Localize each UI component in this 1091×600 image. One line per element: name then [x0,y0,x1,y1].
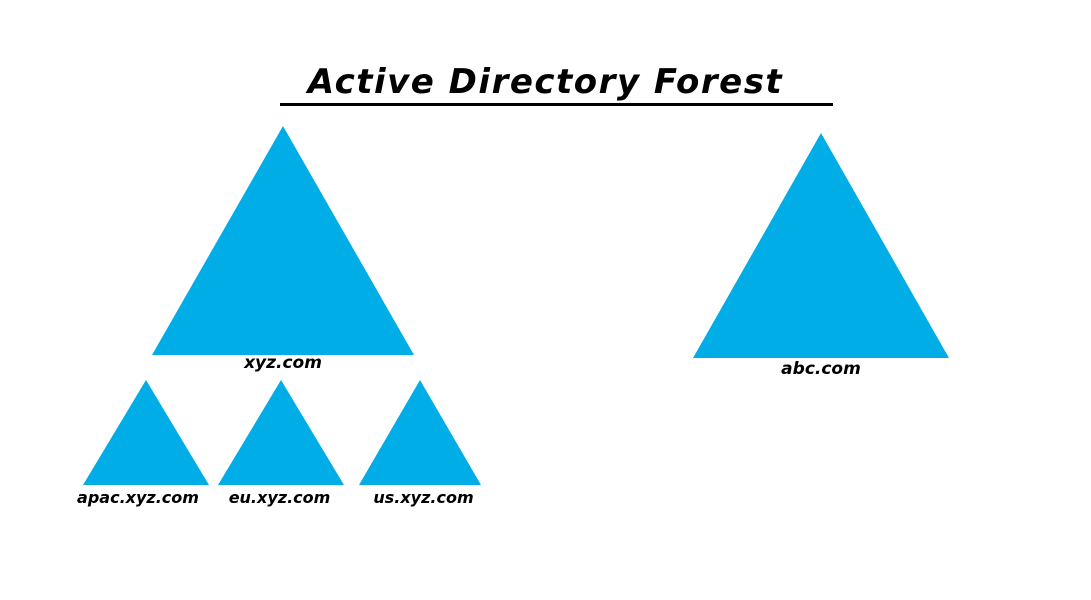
domain-label-abc: abc.com [740,359,902,379]
domain-triangle-eu-xyz [218,380,344,485]
domain-label-apac-xyz: apac.xyz.com [62,488,214,507]
domain-label-xyz: xyz.com [202,353,364,373]
title-underline-rule [280,103,833,106]
domain-triangle-us-xyz [359,380,481,485]
diagram-canvas: Active Directory Forest xyz.com apac.xyz… [0,0,1091,600]
diagram-title: Active Directory Forest [0,62,1091,102]
domain-label-us-xyz: us.xyz.com [358,488,489,507]
domain-triangle-apac-xyz [83,380,209,485]
domain-label-eu-xyz: eu.xyz.com [214,488,345,507]
domain-triangle-xyz [152,126,414,355]
domain-triangle-abc [693,133,949,358]
